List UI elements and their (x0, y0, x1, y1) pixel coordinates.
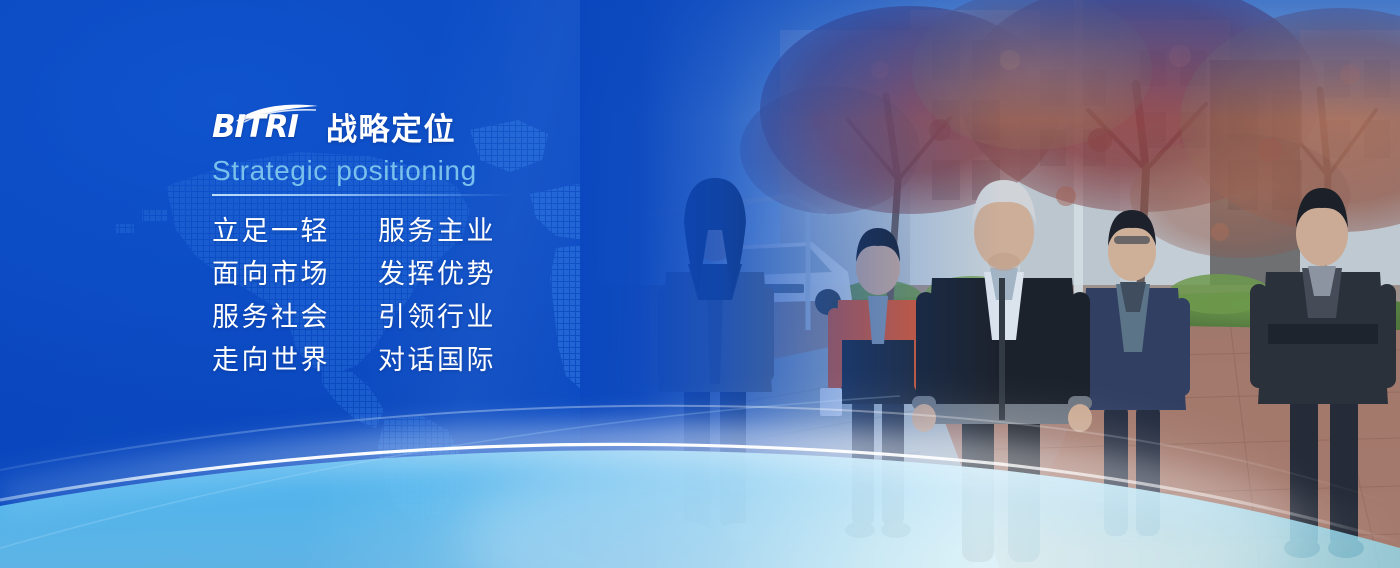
slogan-row: 面向市场 发挥优势 (212, 261, 772, 288)
bitri-logo[interactable]: BITRI (212, 108, 312, 148)
slogan-row: 立足一轻 服务主业 (212, 218, 772, 245)
slogan-list: 立足一轻 服务主业 面向市场 发挥优势 服务社会 引领行业 走向世界 对话国际 (212, 218, 772, 374)
slogan-left: 走向世界 (212, 347, 360, 374)
slogan-left: 面向市场 (212, 261, 360, 288)
page-title: 战略定位 (326, 115, 456, 146)
title-divider (212, 194, 512, 196)
slogan-right: 服务主业 (378, 218, 496, 245)
slogan-right: 对话国际 (378, 347, 496, 374)
page-subtitle: Strategic positioning (212, 155, 772, 187)
banner-content: BITRI 战略定位 Strategic positioning 立足一轻 服务… (212, 104, 772, 374)
slogan-right: 发挥优势 (378, 261, 496, 288)
bitri-logo-text: BITRI (212, 112, 298, 143)
slogan-right: 引领行业 (378, 304, 496, 331)
slogan-row: 走向世界 对话国际 (212, 347, 772, 374)
slogan-left: 服务社会 (212, 304, 360, 331)
slogan-left: 立足一轻 (212, 218, 360, 245)
headline-row: BITRI 战略定位 (212, 104, 772, 148)
strategic-positioning-banner: BITRI 战略定位 Strategic positioning 立足一轻 服务… (0, 0, 1400, 568)
slogan-row: 服务社会 引领行业 (212, 304, 772, 331)
